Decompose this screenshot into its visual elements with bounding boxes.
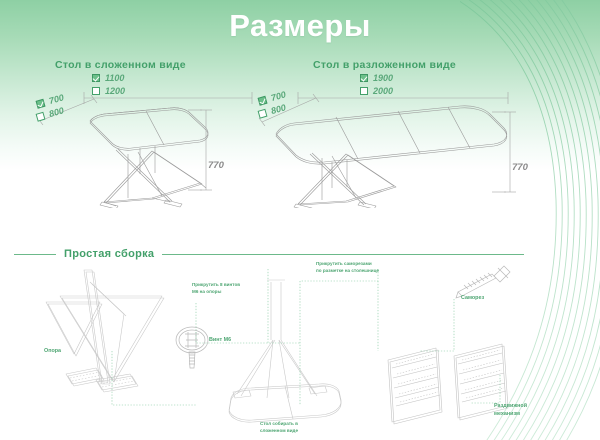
option-row[interactable]: 1100 [92,72,125,83]
checkbox-unchecked-icon[interactable] [257,108,267,118]
checkbox-unchecked-icon[interactable] [92,87,100,95]
option-row[interactable]: 2000 [360,85,393,96]
option-label: 700 [48,92,65,106]
part-label-mechanism: Раздвижной механизм [494,403,527,418]
dimension-line-height-right [492,106,532,198]
dimension-line-width-right [292,88,514,106]
checkbox-checked-icon[interactable] [92,74,100,82]
option-label: 700 [270,89,287,103]
depth-options-right: 700 800 [258,92,286,118]
dimension-line-height-left [188,104,228,196]
checkbox-checked-icon[interactable] [257,95,267,105]
option-row[interactable]: 1900 [360,72,393,83]
option-label: 1200 [105,86,125,96]
depth-options-left: 700 800 [36,95,64,121]
option-label: 1100 [105,73,124,83]
option-label: 800 [48,105,65,119]
part-label-screw: Саморез [461,295,484,303]
checkbox-checked-icon[interactable] [35,98,45,108]
option-label: 2000 [373,86,393,96]
part-label-support: Опора [44,348,61,356]
option-row[interactable]: 1200 [92,85,125,96]
section-heading-unfolded: Стол в разложенном виде [313,59,456,71]
option-label: 1900 [373,73,393,83]
note-screws: Прикрутить 8 винтов М6 на опоры [192,282,240,295]
infographic-page: Размеры Стол в сложенном виде [0,0,600,440]
checkbox-checked-icon[interactable] [360,74,368,82]
height-value-right: 770 [512,162,528,173]
part-label-bolt: Винт М6 [209,337,231,345]
section-heading-folded: Стол в сложенном виде [55,59,186,71]
option-label: 800 [270,102,287,116]
height-value-left: 770 [208,160,224,171]
page-title: Размеры [0,8,600,44]
note-self-tapping: Прикрутить саморезами по разметке на сто… [316,261,379,274]
checkbox-unchecked-icon[interactable] [35,111,45,121]
checkbox-unchecked-icon[interactable] [360,87,368,95]
width-options-left: 1100 1200 [92,72,125,98]
width-options-right: 1900 2000 [360,72,393,98]
note-assemble-folded: Стол собирать в сложенном виде [260,421,298,434]
